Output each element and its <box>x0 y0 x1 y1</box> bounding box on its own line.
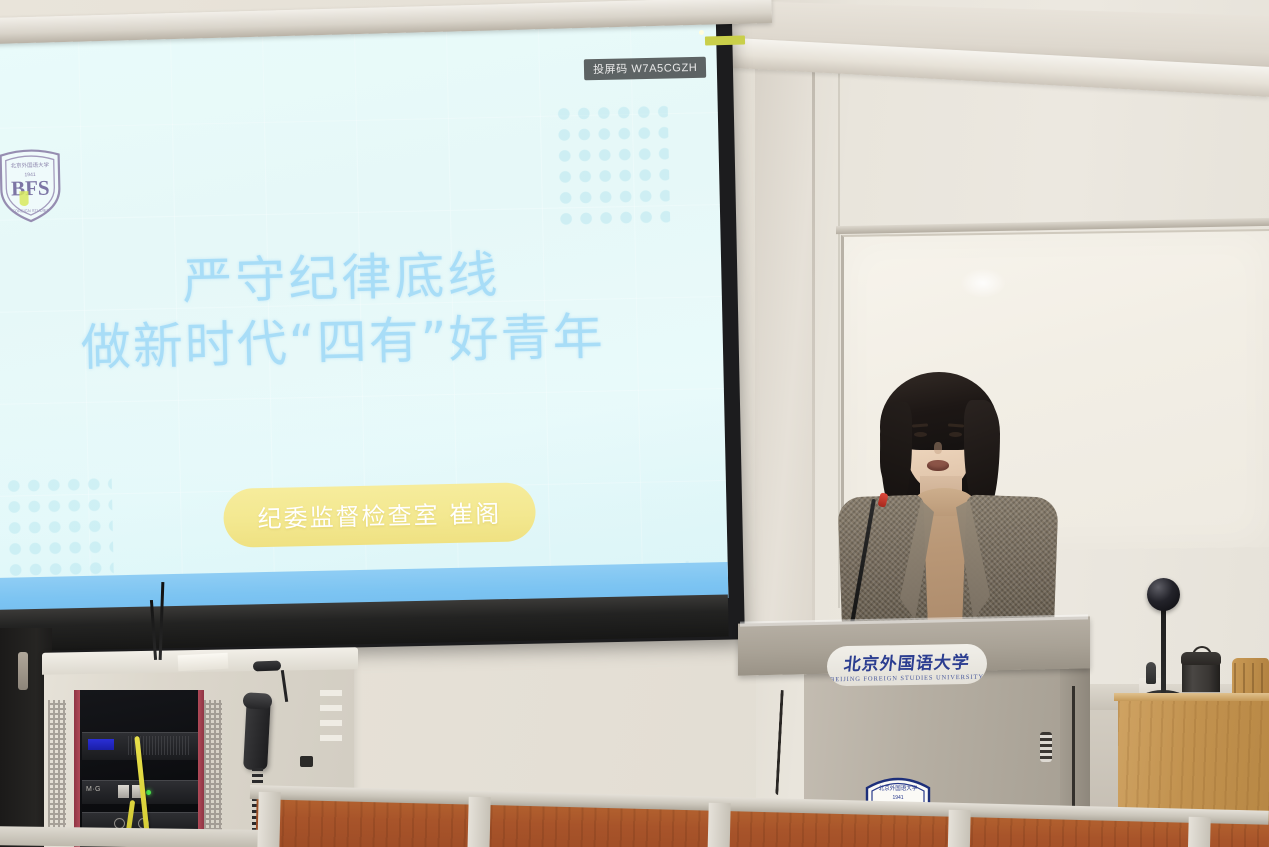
wall-column <box>755 30 815 640</box>
rack-side-labels <box>320 690 342 750</box>
slide-title: 严守纪律底线 做新时代“四有”好青年 <box>0 239 693 382</box>
podium-cable-connector <box>1040 732 1052 762</box>
auditorium-desk-post <box>1187 817 1211 847</box>
auditorium-desk-post <box>257 792 281 847</box>
bfs-shield-logo-slide: 北京外国语大学 1941 BFS FOREIGN STUDIES <box>0 144 64 223</box>
av-rack-vent-right <box>204 700 222 840</box>
slide-decor-dots-top-right <box>554 101 671 228</box>
auditorium-desk-post <box>707 803 731 847</box>
speaker-person <box>822 368 1072 648</box>
lecture-hall-scene: 北京外国语大学 1941 BFS FOREIGN STUDIES 严守纪律底线 … <box>0 0 1269 847</box>
svg-text:北京外国语大学: 北京外国语大学 <box>879 784 918 792</box>
secondary-microphone <box>1146 662 1156 684</box>
svg-text:FOREIGN STUDIES: FOREIGN STUDIES <box>12 208 49 214</box>
screen-housing-marker <box>705 35 745 45</box>
rack-unit-power-led <box>146 790 151 795</box>
speaker-eye-right <box>949 432 962 437</box>
speaker-eye-left <box>914 432 927 437</box>
podium-nameplate-cn: 北京外国语大学 <box>843 647 972 674</box>
slide-speaker-badge: 纪委监督检查室 崔阁 <box>223 482 536 548</box>
speaker-nose <box>934 442 942 454</box>
thermos-lid <box>1181 652 1221 665</box>
cabinet-door-handle <box>18 652 28 690</box>
remote-control <box>253 661 281 672</box>
podium-nameplate: 北京外国语大学 BEIJING FOREIGN STUDIES UNIVERSI… <box>827 644 987 687</box>
whiteboard-glare <box>960 268 1006 298</box>
av-rack-rail-left <box>74 690 80 847</box>
wall-seam <box>812 40 815 620</box>
rack-unit-display <box>88 739 114 750</box>
svg-text:1941: 1941 <box>892 795 903 801</box>
paper-sheet <box>178 653 229 672</box>
ball-microphone-head <box>1147 578 1180 611</box>
speaker-mouth <box>927 460 949 471</box>
left-desk-rail <box>0 826 264 847</box>
rack-unit-brand-label: M·G <box>86 786 101 793</box>
screencast-code-label: 投屏码 W7A5CGZH <box>584 57 707 81</box>
wooden-side-desk-edge <box>1114 693 1269 701</box>
rack-wall-socket <box>300 756 313 767</box>
telephone-handset-earpiece <box>243 692 273 709</box>
auditorium-desk-post <box>947 810 971 847</box>
screen-housing-indicator-light <box>699 30 704 35</box>
av-rack-vent-left <box>48 700 66 835</box>
projection-screen-surface: 北京外国语大学 1941 BFS FOREIGN STUDIES 严守纪律底线 … <box>0 20 728 614</box>
auditorium-desk-post <box>467 797 491 847</box>
rack-unit-button-1[interactable] <box>118 785 129 798</box>
svg-text:BFS: BFS <box>11 176 50 201</box>
podium-cable-secondary <box>1072 686 1075 806</box>
